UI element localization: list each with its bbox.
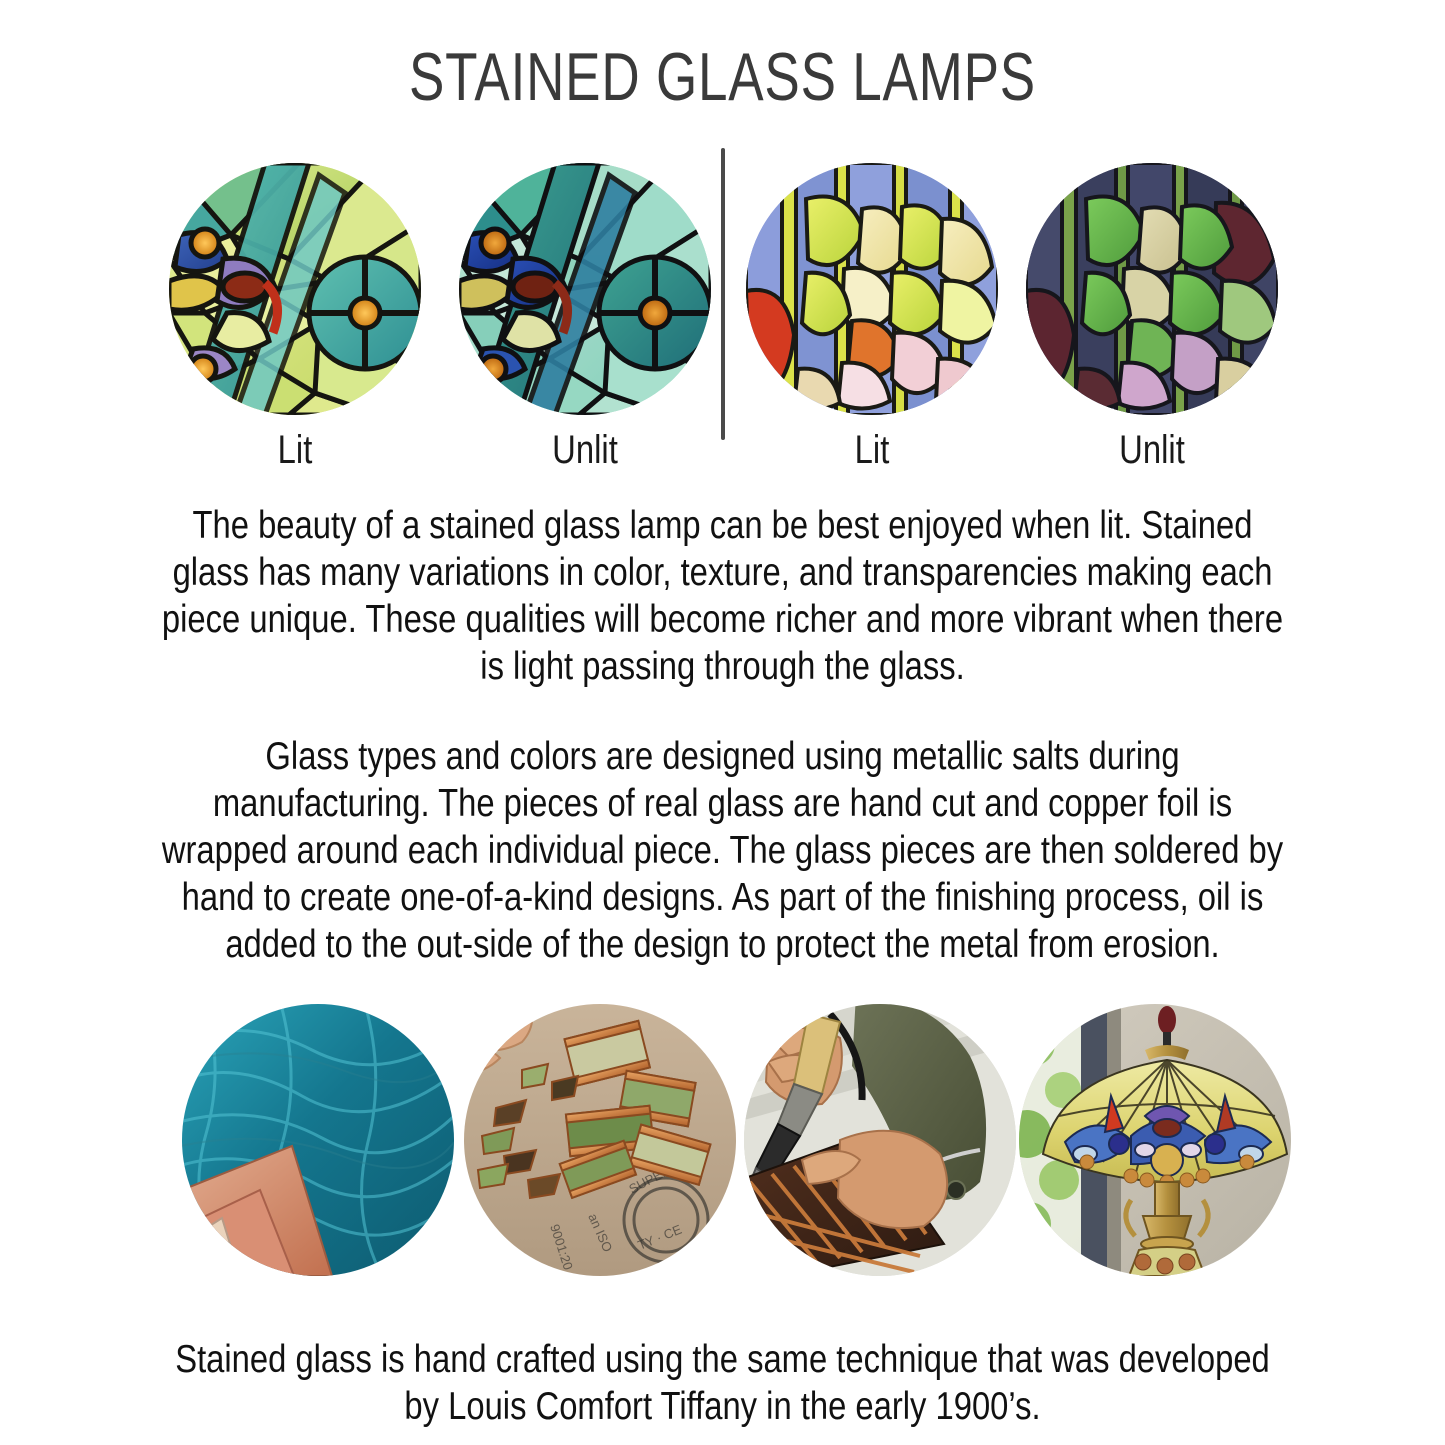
comparison-label: Unlit <box>1049 427 1256 473</box>
process-photo-row: SUPER QU TY · CE 9001:20 an ISO <box>0 1004 1445 1284</box>
stained-glass-swatch-design-two-lit <box>746 163 998 415</box>
comparison-item-design-one-lit: Lit <box>169 163 421 473</box>
finished-tiffany-lamp-photo <box>1019 1004 1291 1276</box>
page-title: STAINED GLASS LAMPS <box>159 38 1286 116</box>
comparison-divider <box>721 148 725 440</box>
comparison-label: Lit <box>769 427 976 473</box>
copper-foiled-pieces-photo: SUPER QU TY · CE 9001:20 an ISO <box>464 1004 736 1276</box>
footer-paragraph: Stained glass is hand crafted using the … <box>158 1336 1288 1430</box>
comparison-item-design-one-unlit: Unlit <box>459 163 711 473</box>
raw-glass-sheets-photo <box>182 1004 454 1276</box>
comparison-label: Lit <box>192 427 399 473</box>
process-paragraph: Glass types and colors are designed usin… <box>158 733 1288 968</box>
comparison-label: Unlit <box>482 427 689 473</box>
stained-glass-swatch-design-one-lit <box>169 163 421 415</box>
hand-soldering-photo <box>744 1004 1016 1276</box>
stained-glass-swatch-design-two-unlit <box>1026 163 1278 415</box>
intro-paragraph: The beauty of a stained glass lamp can b… <box>158 502 1288 690</box>
comparison-item-design-two-unlit: Unlit <box>1026 163 1278 473</box>
stained-glass-swatch-design-one-unlit <box>459 163 711 415</box>
lit-unlit-comparison-row: Lit <box>0 163 1445 493</box>
comparison-item-design-two-lit: Lit <box>746 163 998 473</box>
